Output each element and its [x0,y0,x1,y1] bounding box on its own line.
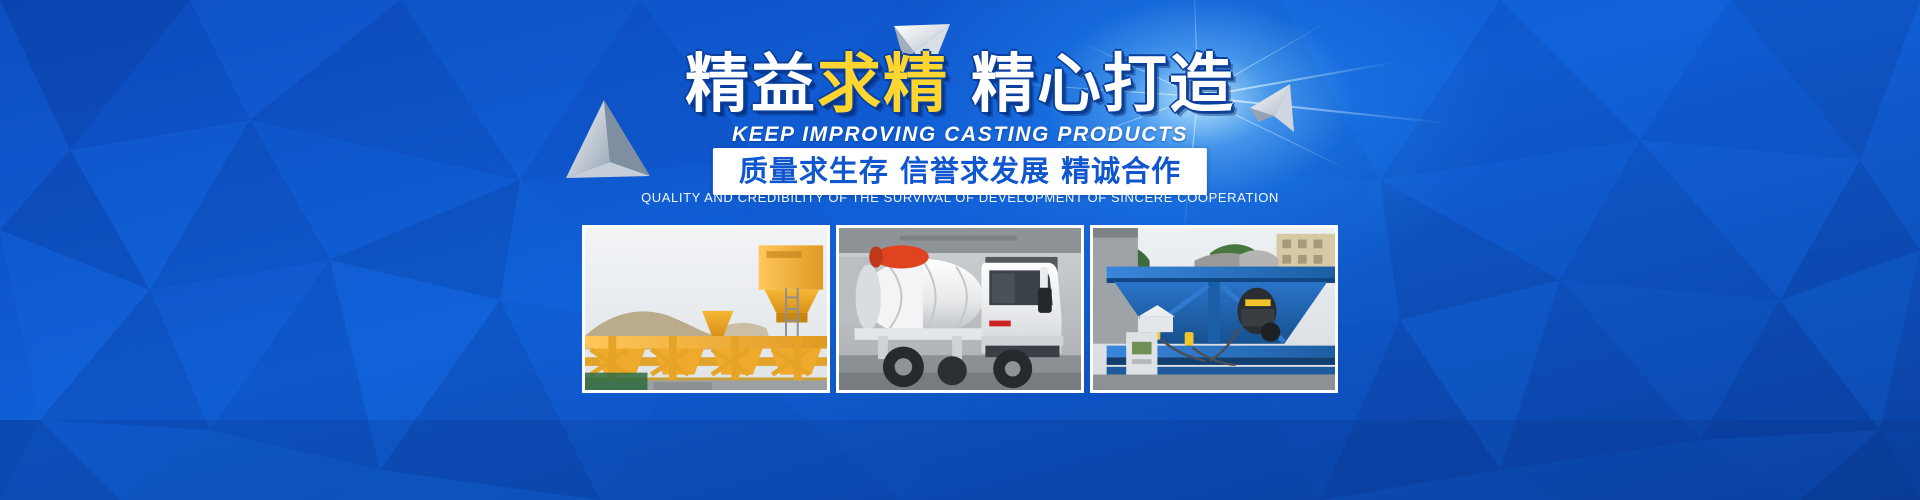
photo-batching-plant[interactable] [582,225,830,393]
headline-segment-2: 求精 [817,50,949,120]
photo-blue-batcher[interactable] [1090,225,1338,393]
promo-banner: 精益求精 精心打造 KEEP IMPROVING CASTING PRODUCT… [0,0,1920,500]
slogan-text-en: QUALITY AND CREDIBILITY OF THE SURVIVAL … [0,190,1920,205]
headline: 精益求精 精心打造 [0,50,1920,120]
headline-segment-3: 精心打造 [971,50,1235,120]
slogan-bar: 质量求生存 信誉求发展 精诚合作 [713,148,1207,195]
headline-spacer [949,50,971,120]
headline-subtitle-en: KEEP IMPROVING CASTING PRODUCTS [0,123,1920,147]
headline-segment-1: 精益 [685,50,817,120]
photo-mixer-truck[interactable] [836,225,1084,393]
slogan-text-cn: 质量求生存 信誉求发展 精诚合作 [739,154,1181,188]
product-photo-strip [582,225,1338,393]
